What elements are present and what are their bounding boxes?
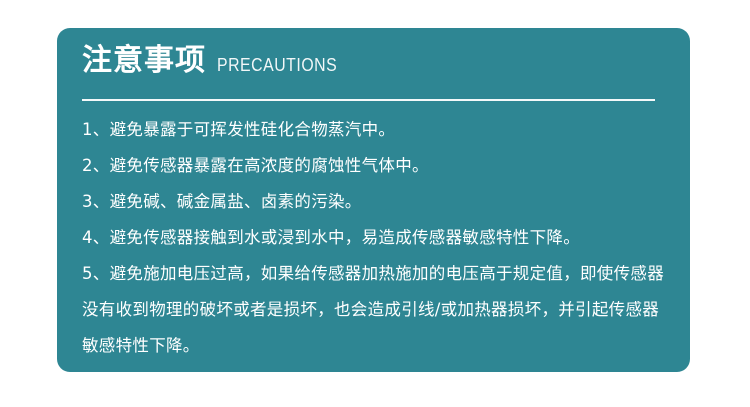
page-title: 注意事项: [82, 46, 206, 76]
header-divider: [82, 99, 655, 101]
list-item: 1、避免暴露于可挥发性硅化合物蒸汽中。: [82, 112, 674, 148]
list-item: 5、避免施加电压过高，如果给传感器加热施加的电压高于规定值，即使传感器没有收到物…: [82, 256, 674, 364]
list-item: 3、避免碱、碱金属盐、卤素的污染。: [82, 184, 674, 220]
list-item: 2、避免传感器暴露在高浓度的腐蚀性气体中。: [82, 148, 674, 184]
precautions-list: 1、避免暴露于可挥发性硅化合物蒸汽中。 2、避免传感器暴露在高浓度的腐蚀性气体中…: [82, 112, 674, 364]
page-subtitle: PRECAUTIONS: [217, 56, 337, 76]
list-item: 4、避免传感器接触到水或浸到水中，易造成传感器敏感特性下降。: [82, 220, 674, 256]
card-header: 注意事项 PRECAUTIONS: [82, 46, 354, 76]
precautions-card: 注意事项 PRECAUTIONS 1、避免暴露于可挥发性硅化合物蒸汽中。 2、避…: [57, 28, 690, 372]
screenshot-canvas: 注意事项 PRECAUTIONS 1、避免暴露于可挥发性硅化合物蒸汽中。 2、避…: [0, 0, 750, 407]
